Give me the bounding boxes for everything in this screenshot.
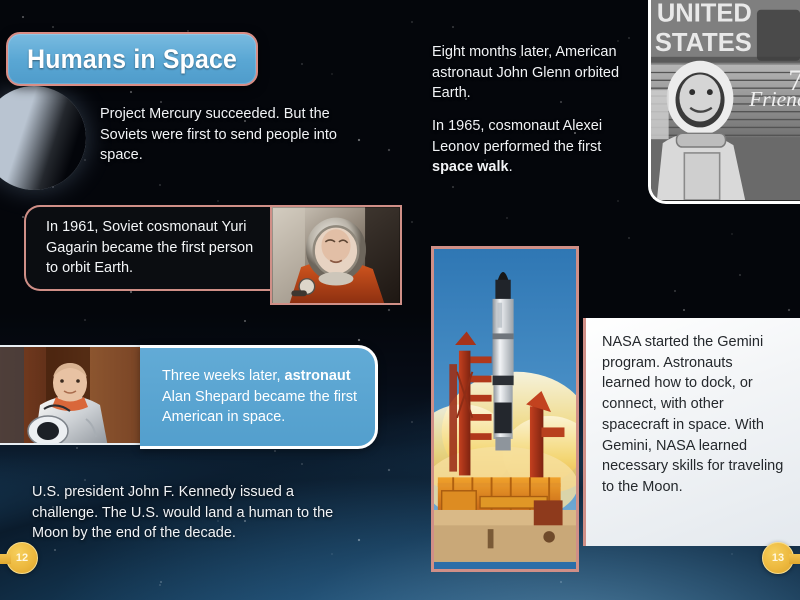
text-jfk-challenge: U.S. president John F. Kennedy issued a …	[32, 482, 362, 544]
callout-gagarin: In 1961, Soviet cosmonaut Yuri Gagarin b…	[24, 205, 272, 291]
glenn-illustration: UNITED STATES Friendship 7	[651, 0, 800, 200]
capsule-text-seven: 7	[788, 65, 800, 97]
photo-john-glenn: UNITED STATES Friendship 7	[648, 0, 800, 204]
leonov-term-space-walk: space walk	[432, 159, 509, 175]
page-number-left-label: 12	[16, 552, 28, 564]
photo-gemini-titan-launch	[431, 246, 579, 572]
leonov-text-part-2: .	[509, 159, 513, 175]
page-title: Humans in Space	[27, 44, 237, 75]
photo-yuri-gagarin	[270, 205, 402, 305]
gagarin-illustration	[272, 207, 400, 304]
shepard-text-part-1: Three weeks later,	[162, 368, 285, 384]
page-number-right: 13	[762, 542, 794, 574]
text-gemini-program: NASA started the Gemini program. Astrona…	[602, 332, 784, 498]
shepard-text-part-2: Alan Shepard became the first American i…	[162, 389, 357, 426]
capsule-text-united: UNITED	[657, 0, 752, 28]
leonov-text-part-1: In 1965, cosmonaut Alexei Leonov perform…	[432, 118, 602, 155]
rocket-illustration	[434, 249, 576, 562]
shepard-illustration	[0, 347, 140, 445]
text-alan-shepard: Three weeks later, astronaut Alan Shepar…	[162, 366, 361, 429]
spread-page: Humans in Space Project Mercury succeede…	[0, 0, 800, 600]
shepard-term-astronaut: astronaut	[285, 368, 351, 384]
callout-alan-shepard: Three weeks later, astronaut Alan Shepar…	[140, 345, 378, 449]
photo-alan-shepard	[0, 345, 140, 445]
text-john-glenn: Eight months later, American astronaut J…	[432, 42, 632, 104]
page-badge-tail-left	[0, 554, 11, 564]
text-yuri-gagarin: In 1961, Soviet cosmonaut Yuri Gagarin b…	[46, 217, 258, 279]
panel-gemini-program: NASA started the Gemini program. Astrona…	[583, 318, 800, 546]
text-project-mercury: Project Mercury succeeded. But the Sovie…	[100, 104, 340, 166]
page-number-left: 12	[6, 542, 38, 574]
text-alexei-leonov: In 1965, cosmonaut Alexei Leonov perform…	[432, 116, 622, 178]
page-number-right-label: 13	[772, 552, 784, 564]
page-title-banner: Humans in Space	[6, 32, 258, 86]
page-badge-tail-right	[789, 554, 800, 564]
capsule-text-states: STATES	[655, 29, 752, 57]
